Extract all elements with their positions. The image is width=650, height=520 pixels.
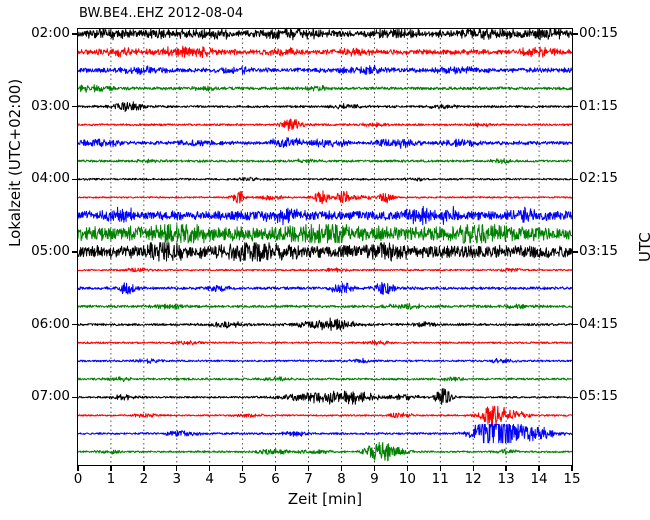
right-tick-label-0415: 04:15 bbox=[579, 316, 618, 332]
x-tick-label-7: 7 bbox=[289, 471, 329, 487]
plot-area[interactable] bbox=[77, 28, 573, 466]
waveform-trace bbox=[78, 225, 572, 243]
x-tick-mark bbox=[209, 466, 210, 471]
waveform-trace bbox=[78, 159, 572, 164]
waveform-trace bbox=[78, 341, 572, 345]
x-tick-label-9: 9 bbox=[354, 471, 394, 487]
waveform-trace bbox=[78, 29, 572, 40]
waveform-trace bbox=[78, 177, 572, 181]
x-tick-label-0: 0 bbox=[58, 471, 98, 487]
x-tick-label-6: 6 bbox=[256, 471, 296, 487]
left-tick-label-0600: 06:00 bbox=[31, 316, 70, 332]
waveform-trace bbox=[78, 85, 572, 93]
x-tick-label-15: 15 bbox=[552, 471, 592, 487]
x-tick-label-1: 1 bbox=[91, 471, 131, 487]
left-tick-label-0200: 02:00 bbox=[31, 25, 70, 41]
waveform-trace bbox=[78, 206, 572, 224]
x-tick-mark bbox=[242, 466, 243, 471]
right-tick-mark bbox=[573, 106, 578, 107]
plot-title: BW.BE4..EHZ 2012-08-04 bbox=[79, 6, 243, 21]
right-tick-label-0115: 01:15 bbox=[579, 98, 618, 114]
x-tick-label-14: 14 bbox=[519, 471, 559, 487]
x-tick-label-8: 8 bbox=[321, 471, 361, 487]
x-tick-mark bbox=[308, 466, 309, 471]
x-tick-label-2: 2 bbox=[124, 471, 164, 487]
right-tick-mark bbox=[573, 33, 578, 34]
right-tick-mark bbox=[573, 179, 578, 180]
right-tick-mark bbox=[573, 324, 578, 325]
x-axis-label: Zeit [min] bbox=[0, 490, 650, 508]
right-tick-mark bbox=[573, 251, 578, 252]
x-tick-mark bbox=[505, 466, 506, 471]
waveform-trace bbox=[78, 46, 572, 57]
right-tick-label-0215: 02:15 bbox=[579, 170, 618, 186]
x-tick-label-4: 4 bbox=[190, 471, 230, 487]
waveform-trace bbox=[78, 303, 572, 309]
waveform-trace bbox=[78, 243, 572, 261]
waveform-trace bbox=[78, 191, 572, 204]
waveform-trace bbox=[78, 65, 572, 74]
waveform-trace bbox=[78, 377, 572, 382]
waveform-trace bbox=[78, 119, 572, 130]
right-tick-label-0015: 00:15 bbox=[579, 25, 618, 41]
x-tick-label-11: 11 bbox=[420, 471, 460, 487]
waveform-trace bbox=[78, 268, 572, 272]
waveform-canvas bbox=[78, 29, 572, 465]
x-tick-mark bbox=[473, 466, 474, 471]
x-tick-label-5: 5 bbox=[223, 471, 263, 487]
left-tick-label-0500: 05:00 bbox=[31, 243, 70, 259]
x-tick-label-13: 13 bbox=[486, 471, 526, 487]
waveform-trace bbox=[78, 282, 572, 294]
x-tick-mark bbox=[275, 466, 276, 471]
waveform-trace bbox=[78, 443, 572, 461]
right-tick-mark bbox=[573, 397, 578, 398]
x-tick-mark bbox=[571, 466, 572, 471]
x-tick-mark bbox=[440, 466, 441, 471]
x-tick-mark bbox=[110, 466, 111, 471]
left-tick-label-0700: 07:00 bbox=[31, 388, 70, 404]
waveform-trace bbox=[78, 318, 572, 330]
seismogram-figure: BW.BE4..EHZ 2012-08-04 02:0003:0004:0005… bbox=[0, 0, 650, 520]
x-tick-label-12: 12 bbox=[453, 471, 493, 487]
right-tick-label-0315: 03:15 bbox=[579, 243, 618, 259]
waveform-trace bbox=[78, 138, 572, 149]
x-tick-label-10: 10 bbox=[387, 471, 427, 487]
right-axis-label: UTC bbox=[636, 232, 650, 262]
x-tick-mark bbox=[176, 466, 177, 471]
x-tick-label-3: 3 bbox=[157, 471, 197, 487]
waveform-trace bbox=[78, 389, 572, 405]
x-tick-mark bbox=[77, 466, 78, 471]
x-tick-mark bbox=[143, 466, 144, 471]
x-tick-mark bbox=[538, 466, 539, 471]
x-tick-mark bbox=[407, 466, 408, 471]
waveform-trace bbox=[78, 102, 572, 112]
waveform-trace bbox=[78, 406, 572, 424]
x-tick-mark bbox=[341, 466, 342, 471]
right-tick-label-0515: 05:15 bbox=[579, 388, 618, 404]
left-axis-label: Lokalzeit (UTC+02:00) bbox=[6, 79, 24, 247]
x-tick-mark bbox=[374, 466, 375, 471]
waveform-trace bbox=[78, 424, 572, 442]
left-tick-label-0300: 03:00 bbox=[31, 98, 70, 114]
left-tick-label-0400: 04:00 bbox=[31, 170, 70, 186]
waveform-trace bbox=[78, 358, 572, 363]
